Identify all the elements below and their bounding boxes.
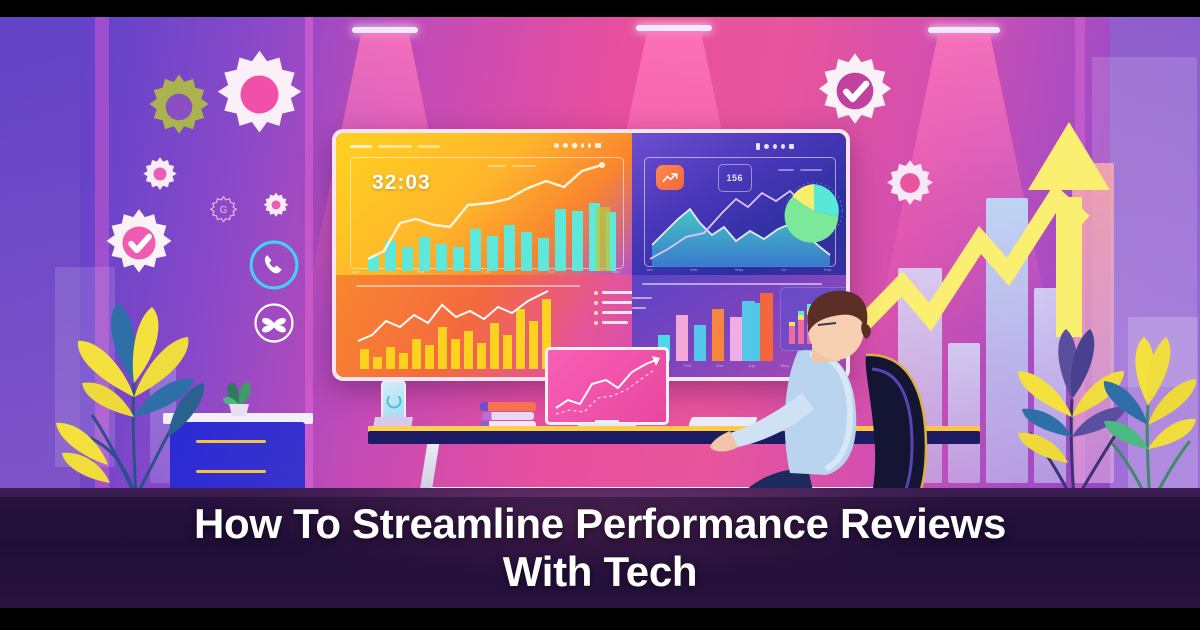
- letterbox-top: [0, 0, 1200, 17]
- gear-plain-right-icon: [884, 157, 936, 209]
- gear-olive-icon: [142, 70, 216, 144]
- panel-top-left: 32:03: [336, 133, 632, 275]
- gear-tiny-right-icon: [262, 191, 290, 219]
- chart-top-left: [350, 159, 622, 273]
- panel-top-right: 156: [632, 133, 846, 275]
- stacked-books: [480, 402, 536, 428]
- panel-toolbar-dots-right[interactable]: [756, 143, 794, 150]
- svg-text:G: G: [220, 205, 228, 216]
- phone-circle-icon: [248, 239, 300, 291]
- gear-white-large-icon: [212, 47, 307, 142]
- letterbox-bottom: [0, 608, 1200, 630]
- panel-toolbar-dots[interactable]: [554, 143, 601, 148]
- desk-monitor[interactable]: [545, 347, 669, 425]
- chart-pie: [782, 179, 846, 243]
- title-line-1: How To Streamline Performance Reviews: [0, 500, 1200, 548]
- gear-small-white-icon: [141, 155, 179, 193]
- gear-outline-pink-icon: G: [209, 195, 238, 224]
- title-line-2: With Tech: [0, 548, 1200, 596]
- illustration-canvas: G: [0, 0, 1200, 630]
- gear-check-right-icon: [815, 51, 895, 131]
- fan-circle-icon: [252, 301, 296, 345]
- page-title: How To Streamline Performance Reviews Wi…: [0, 500, 1200, 596]
- gear-check-left-icon: [103, 207, 175, 279]
- monitor-chart: [548, 350, 666, 422]
